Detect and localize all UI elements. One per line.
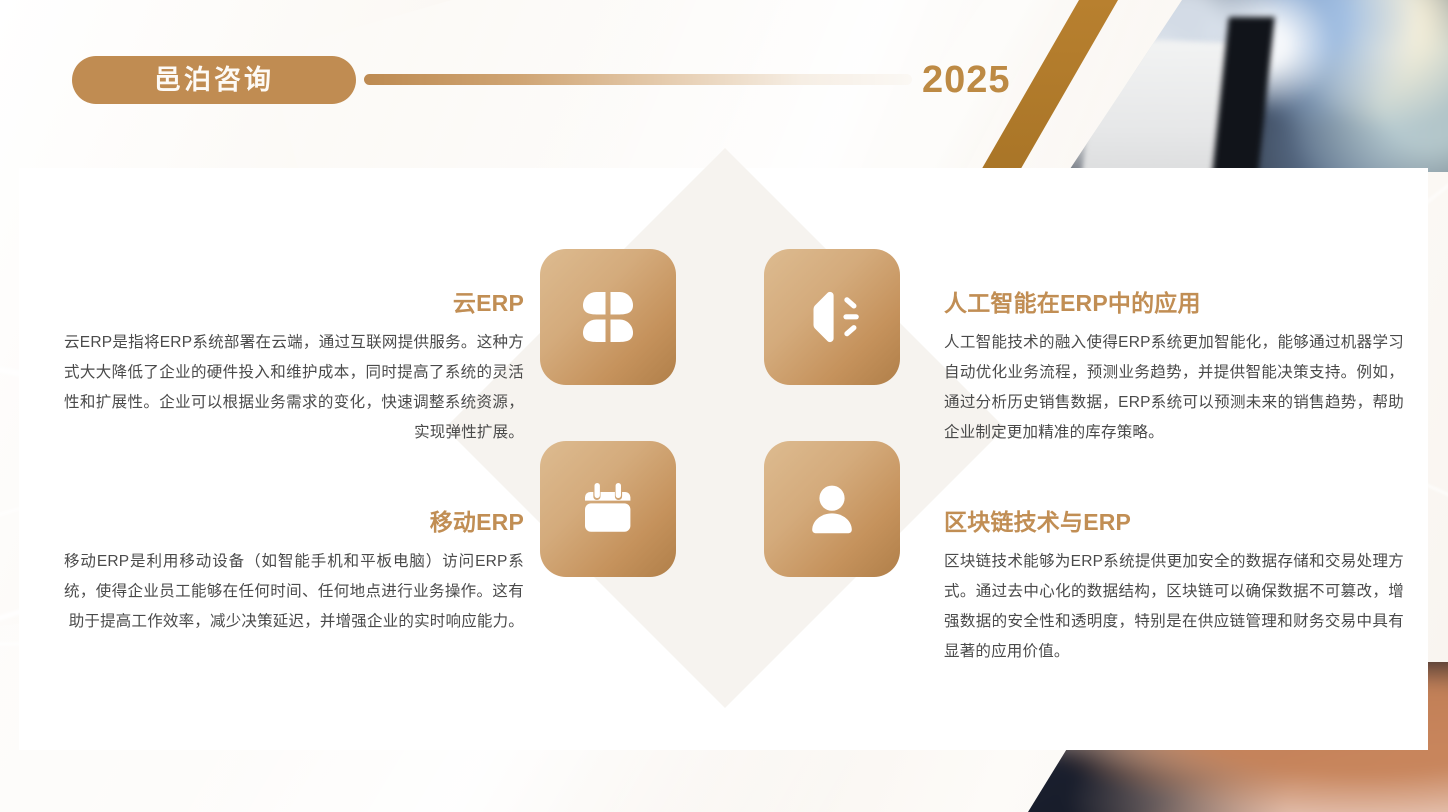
grid-clover-icon [579, 288, 637, 346]
slide-header: 邑泊咨询 2025 [0, 0, 1448, 168]
megaphone-icon [802, 288, 862, 346]
icon-tile-ai-in-erp[interactable] [764, 249, 900, 385]
brand-badge: 邑泊咨询 [72, 56, 356, 104]
text-block-mobile-erp: 移动ERP 移动ERP是利用移动设备（如智能手机和平板电脑）访问ERP系统，使得… [64, 507, 524, 637]
text-block-blockchain-erp: 区块链技术与ERP 区块链技术能够为ERP系统提供更加安全的数据存储和交易处理方… [944, 507, 1404, 667]
calendar-icon [577, 481, 639, 537]
body-blockchain-erp: 区块链技术能够为ERP系统提供更加安全的数据存储和交易处理方式。通过去中心化的数… [944, 547, 1404, 667]
body-mobile-erp: 移动ERP是利用移动设备（如智能手机和平板电脑）访问ERP系统，使得企业员工能够… [64, 547, 524, 637]
content-card: 云ERP 云ERP是指将ERP系统部署在云端，通过互联网提供服务。这种方式大大降… [19, 168, 1428, 750]
icon-grid [540, 249, 910, 607]
heading-mobile-erp: 移动ERP [64, 507, 524, 537]
heading-blockchain-erp: 区块链技术与ERP [944, 507, 1404, 537]
brand-label: 邑泊咨询 [154, 67, 274, 94]
header-connector-bar [364, 74, 912, 85]
icon-tile-mobile-erp[interactable] [540, 441, 676, 577]
icon-tile-blockchain-erp[interactable] [764, 441, 900, 577]
year-label: 2025 [922, 58, 1011, 102]
text-block-ai-in-erp: 人工智能在ERP中的应用 人工智能技术的融入使得ERP系统更加智能化，能够通过机… [944, 288, 1404, 448]
body-cloud-erp: 云ERP是指将ERP系统部署在云端，通过互联网提供服务。这种方式大大降低了企业的… [64, 328, 524, 448]
icon-tile-cloud-erp[interactable] [540, 249, 676, 385]
text-block-cloud-erp: 云ERP 云ERP是指将ERP系统部署在云端，通过互联网提供服务。这种方式大大降… [64, 288, 524, 448]
slide-root: 邑泊咨询 2025 [0, 0, 1448, 812]
body-ai-in-erp: 人工智能技术的融入使得ERP系统更加智能化，能够通过机器学习自动优化业务流程，预… [944, 328, 1404, 448]
user-icon [803, 480, 861, 538]
heading-cloud-erp: 云ERP [64, 288, 524, 318]
heading-ai-in-erp: 人工智能在ERP中的应用 [944, 288, 1404, 318]
